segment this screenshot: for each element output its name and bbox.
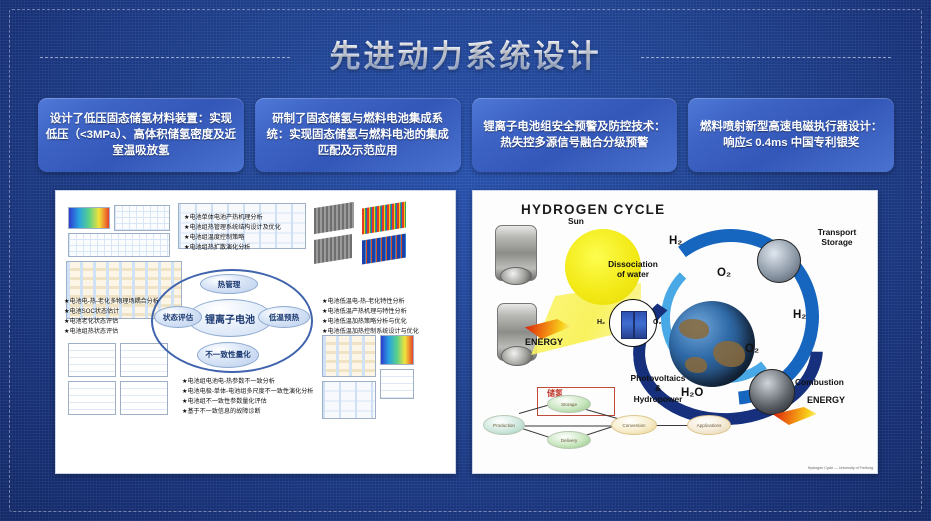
flow-connector	[519, 425, 615, 427]
flow-node-production-label: Production	[493, 423, 515, 428]
label-h2-top: H₂	[669, 235, 682, 247]
bullet-item: ★电池低温产热机理与特性分析	[322, 307, 419, 317]
label-o2-top: O₂	[717, 267, 731, 279]
bullets-state-estimation: ★电池电-热-老化多物理场耦合分析 ★电池SOC状态估计 ★电池老化状态评估 ★…	[64, 297, 159, 336]
transport-truck-photo	[757, 239, 801, 283]
bullet-item: ★电池SOC状态估计	[64, 307, 159, 317]
thumb-module-thermal-cool	[362, 234, 406, 265]
flow-node-applications[interactable]: Applications	[687, 415, 731, 435]
hydrogen-cycle-title: HYDROGEN CYCLE	[521, 202, 665, 217]
electrode-hydrogen	[621, 311, 634, 339]
node-low-temp-preheat[interactable]: 低温预热	[258, 306, 310, 328]
label-cell-o2: O₂	[653, 319, 662, 328]
hydrogen-cycle-panel: HYDROGEN CYCLE Sun	[472, 190, 878, 474]
injector-nozzle-top	[500, 267, 532, 285]
injector-photo-top	[495, 225, 537, 281]
label-transport-line2: Storage	[803, 237, 871, 247]
box-fuelcell-system[interactable]: 研制了固态储氢与燃料电池集成系统：实现固态储氢与燃料电池的集成匹配及示范应用	[255, 98, 461, 172]
thumb-module-photo	[314, 202, 354, 234]
injector-nozzle-bottom	[501, 346, 533, 366]
thumb-curve-2	[120, 343, 168, 377]
electrolysis-cell-icon	[609, 299, 657, 347]
bullet-item: ★电池电-热-老化多物理场耦合分析	[64, 297, 159, 307]
bullet-item: ★电池组热管理系统结构设计及优化	[184, 223, 281, 233]
injector-photo-bottom	[497, 303, 537, 361]
label-transport-line1: Transport	[803, 227, 871, 237]
flow-node-delivery[interactable]: Delivery	[547, 431, 591, 449]
slide-root: 先进动力系统设计 设计了低压固态储氢材料装置：实现低压（<3MPa）、高体积储氢…	[0, 0, 931, 521]
thumb-diagnosis-chart	[322, 381, 376, 419]
electrode-oxygen	[634, 311, 647, 339]
box-fuelcell-system-text: 研制了固态储氢与燃料电池集成系统：实现固态储氢与燃料电池的集成匹配及示范应用	[262, 111, 454, 160]
flow-node-production[interactable]: Production	[483, 415, 525, 435]
flow-node-storage[interactable]: Storage	[547, 395, 591, 413]
earth-landmass	[679, 319, 709, 339]
thumb-module-photo-2	[314, 234, 352, 264]
label-energy-left: ENERGY	[525, 337, 563, 348]
label-sun: Sun	[568, 216, 584, 226]
thumb-inconsistency-curve	[380, 369, 414, 399]
flow-node-conversion-label: Conversion	[622, 423, 645, 428]
box-battery-safety-text: 锂离子电池组安全预警及防控技术：热失控多源信号融合分级预警	[479, 119, 671, 151]
thumb-module-thermal-warm	[362, 202, 406, 235]
title-bar: 先进动力系统设计	[0, 33, 931, 81]
image-credit: Hydrogen Cycle — University of Freiburg	[808, 466, 873, 470]
thumb-thermal-map	[68, 207, 110, 229]
combustion-engine-photo	[749, 369, 795, 415]
node-state-estimation-label: 状态评估	[163, 312, 193, 323]
node-low-temp-preheat-label: 低温预热	[269, 312, 299, 323]
bullets-inconsistency: ★电池组电池电-热参数不一致分析 ★电池电极-单体-电池组多尺度不一致性演化分析…	[182, 377, 318, 416]
node-thermal-management-label: 热管理	[218, 279, 241, 290]
label-transport-storage: Transport Storage	[803, 227, 871, 248]
box-battery-safety[interactable]: 锂离子电池组安全预警及防控技术：热失控多源信号融合分级预警	[472, 98, 678, 172]
bullet-item: ★电池组热状态评估	[64, 327, 159, 337]
box-hydrogen-storage-text: 设计了低压固态储氢材料装置：实现低压（<3MPa）、高体积储氢密度及近室温吸放氢	[45, 111, 237, 160]
thumb-curve-4	[120, 381, 168, 415]
box-hydrogen-storage[interactable]: 设计了低压固态储氢材料装置：实现低压（<3MPa）、高体积储氢密度及近室温吸放氢	[38, 98, 244, 172]
bullets-thermal-management: ★电池单体电池产热机理分析 ★电池组热管理系统结构设计及优化 ★电池组温度控制策…	[184, 213, 281, 252]
bullet-item: ★电池低温加热策略分析与优化	[322, 317, 419, 327]
bullet-item: ★电池低温电-热-老化特性分析	[322, 297, 419, 307]
label-dissociation: Dissociation of water	[587, 259, 679, 280]
flow-node-applications-label: Applications	[697, 423, 722, 428]
earth-landmass	[685, 357, 707, 373]
thumb-inconsistency-map	[380, 335, 414, 365]
thumb-curve-3	[68, 381, 116, 415]
node-thermal-management[interactable]: 热管理	[200, 274, 258, 294]
thumb-curve-1	[68, 343, 116, 377]
label-energy-right: ENERGY	[807, 395, 845, 406]
highlight-box-row: 设计了低压固态储氢材料装置：实现低压（<3MPa）、高体积储氢密度及近室温吸放氢…	[38, 98, 894, 172]
node-lithium-battery-label: 锂离子电池	[205, 311, 255, 326]
label-dissociation-line1: Dissociation	[587, 259, 679, 269]
node-inconsistency[interactable]: 不一致性量化	[197, 342, 259, 368]
bullet-item: ★电池电极-单体-电池组多尺度不一致性演化分析	[182, 387, 318, 397]
thumb-fault-tree	[322, 335, 376, 377]
box-injector[interactable]: 燃料喷射新型高速电磁执行器设计：响应≤ 0.4ms 中国专利银奖	[688, 98, 894, 172]
label-o2-right: O₂	[745, 343, 759, 355]
label-dissociation-line2: of water	[587, 269, 679, 279]
node-inconsistency-label: 不一致性量化	[205, 351, 251, 360]
bullets-low-temp: ★电池低温电-热-老化特性分析 ★电池低温产热机理与特性分析 ★电池低温加热策略…	[322, 297, 419, 336]
thumb-equivalent-circuit	[68, 233, 170, 257]
bullet-item: ★电池组热扩散演化分析	[184, 243, 281, 253]
bullet-item: ★电池组不一致性参数量化评估	[182, 397, 318, 407]
flow-node-delivery-label: Delivery	[561, 438, 578, 443]
label-h2-right: H₂	[793, 309, 806, 321]
box-injector-text: 燃料喷射新型高速电磁执行器设计：响应≤ 0.4ms 中国专利银奖	[695, 119, 887, 151]
label-combustion: Combustion	[795, 377, 844, 387]
bullet-item: ★电池老化状态评估	[64, 317, 159, 327]
label-cell-h2: H₂	[597, 319, 605, 328]
bullet-item: ★基于不一致信息的故障诊断	[182, 407, 318, 417]
node-state-estimation[interactable]: 状态评估	[154, 306, 202, 328]
flow-node-conversion[interactable]: Conversion	[611, 415, 657, 435]
content-panels: 锂离子电池 热管理 不一致性量化 状态评估 低温预热 ★电池单体电池产热机理分析…	[55, 190, 878, 474]
thumb-cell-array	[114, 205, 170, 231]
page-title: 先进动力系统设计	[0, 33, 931, 81]
bullet-item: ★电池单体电池产热机理分析	[184, 213, 281, 223]
bullet-item: ★电池组电池电-热参数不一致分析	[182, 377, 318, 387]
battery-technology-panel: 锂离子电池 热管理 不一致性量化 状态评估 低温预热 ★电池单体电池产热机理分析…	[55, 190, 456, 474]
hydrogen-value-chain-diagram: 储氢 Production Storage Delivery Conversio…	[483, 387, 733, 449]
label-photovoltaics-line1: Photovoltaics	[613, 373, 703, 383]
bullet-item: ★电池组温度控制策略	[184, 233, 281, 243]
bullet-item: ★电池低温加热控制系统设计与优化	[322, 327, 419, 337]
flow-node-storage-label: Storage	[561, 402, 577, 407]
earth-landmass	[713, 341, 745, 367]
